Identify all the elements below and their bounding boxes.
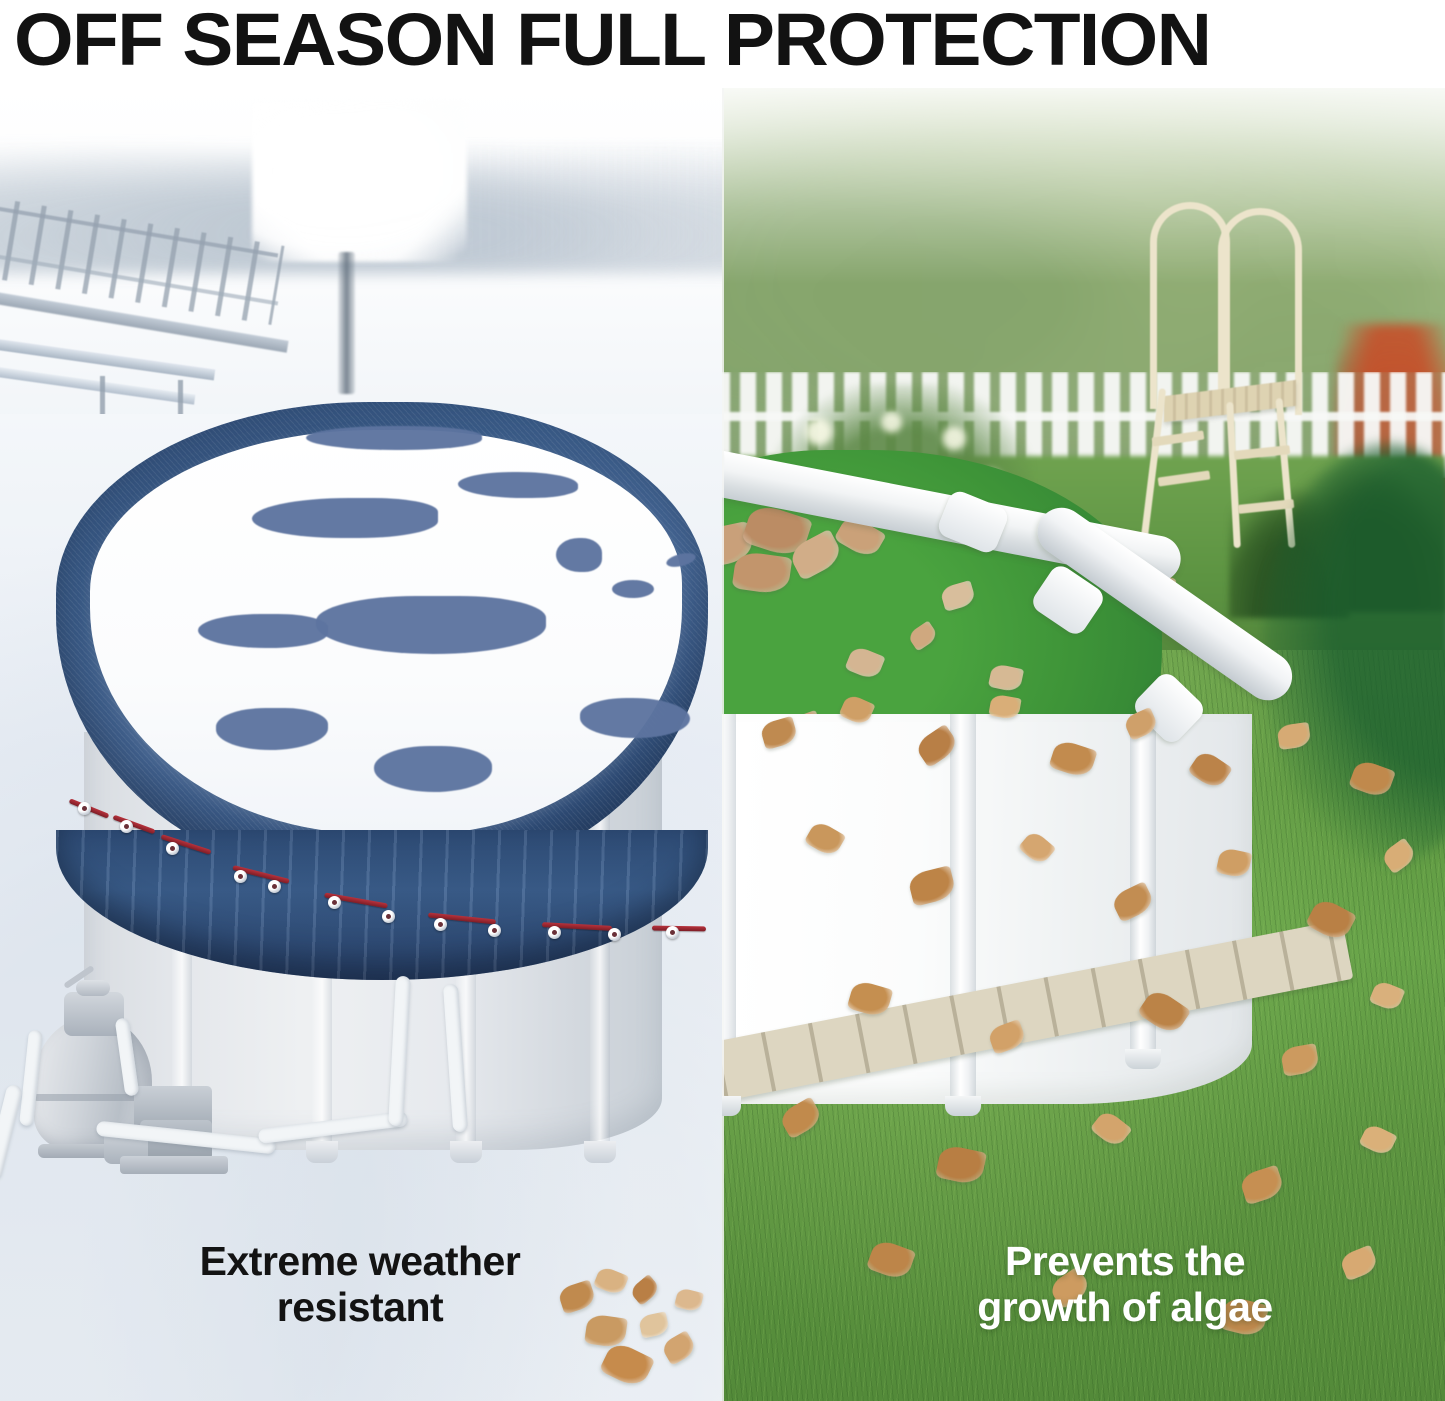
- page-title: OFF SEASON FULL PROTECTION: [14, 0, 1445, 86]
- exposed-cover-patch: [580, 698, 690, 738]
- split-divider: [722, 84, 724, 1401]
- exposed-cover-patch: [252, 498, 438, 538]
- upright-foot: [1125, 1049, 1161, 1069]
- pump-base-plate: [120, 1156, 228, 1174]
- upright-foot: [945, 1096, 981, 1116]
- cover-grommet: [120, 820, 133, 833]
- product-feature-poster: OFF SEASON FULL PROTECTION Extreme weath…: [0, 0, 1445, 1401]
- dock-railing: [0, 176, 312, 421]
- tree-trunk: [338, 252, 355, 394]
- exposed-cover-patch: [556, 538, 602, 572]
- algae-water-shadow: [1262, 444, 1445, 864]
- right-panel-algae: [722, 84, 1445, 1401]
- split-comparison-photo: [0, 84, 1445, 1401]
- cover-cable: [652, 926, 706, 932]
- caption-right-line2: growth of algae: [845, 1284, 1405, 1330]
- cover-grommet: [382, 910, 395, 923]
- caption-right: Prevents the growth of algae: [845, 1238, 1405, 1330]
- valve-top: [76, 980, 110, 996]
- upright-foot: [722, 1096, 741, 1116]
- headline-band: OFF SEASON FULL PROTECTION: [0, 0, 1445, 88]
- cover-grommet: [78, 802, 91, 815]
- cover-grommet: [234, 870, 247, 883]
- exposed-cover-patch: [306, 426, 482, 450]
- caption-left: Extreme weather resistant: [60, 1238, 660, 1330]
- cover-grommet: [166, 842, 179, 855]
- winter-pool-cover: [56, 402, 708, 1002]
- cover-grommet: [328, 896, 341, 909]
- exposed-cover-patch: [374, 746, 492, 792]
- caption-left-line1: Extreme weather: [200, 1238, 521, 1284]
- sand-filter-pump: [16, 974, 246, 1194]
- cover-grommet: [434, 918, 447, 931]
- exposed-cover-patch: [198, 614, 328, 648]
- pool-upright-foot: [450, 1141, 482, 1163]
- cover-grommet: [268, 880, 281, 893]
- cover-grommet: [488, 924, 501, 937]
- cover-grommet: [608, 928, 621, 941]
- caption-left-line2: resistant: [60, 1284, 660, 1330]
- cover-grommet: [548, 926, 561, 939]
- left-panel-winter: [0, 84, 722, 1401]
- multiport-valve: [64, 992, 124, 1036]
- cover-grommet: [666, 926, 679, 939]
- exposed-cover-patch: [612, 580, 654, 598]
- caption-right-line1: Prevents the: [1005, 1238, 1245, 1284]
- exposed-cover-patch: [316, 596, 546, 654]
- pool-upright-foot: [584, 1141, 616, 1163]
- pool-upright-foot: [306, 1141, 338, 1163]
